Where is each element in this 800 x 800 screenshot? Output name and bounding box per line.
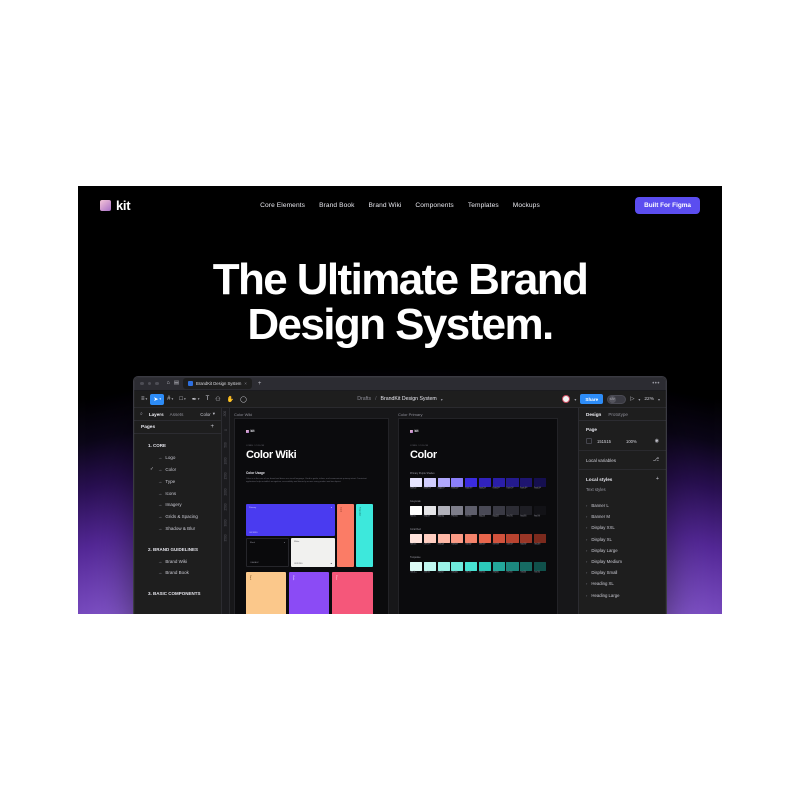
swatch: Coral 200#FFB8A6 <box>438 534 450 546</box>
text-style-display-small[interactable]: ›Display Small <box>579 567 666 578</box>
swatch: Turq 700#1C887E <box>506 562 518 574</box>
color-block-name: Rose <box>335 575 337 580</box>
style-bullet-icon: › <box>586 525 587 530</box>
artboard-eyebrow: CORE / COLOR <box>246 445 388 447</box>
page-arrow-icon: → <box>158 502 162 507</box>
nav-links: Core Elements Brand Book Brand Wiki Comp… <box>78 186 722 224</box>
swatch: Purple 400#5B4DF0 <box>465 478 477 490</box>
swatch-hex: #7E7E8A <box>451 517 463 518</box>
frame-label-color-wiki[interactable]: Color Wiki <box>234 412 252 417</box>
swatch-hex: #4A4A56 <box>479 517 491 518</box>
page-arrow-icon: → <box>158 570 162 575</box>
style-bullet-icon: › <box>586 503 587 508</box>
swatch: Turq 200#9BF2E7 <box>438 562 450 574</box>
text-style-label: Banner M <box>591 514 610 519</box>
swatch-hex: #E8664C <box>479 545 491 546</box>
frame-tool-button[interactable]: #▾ <box>164 394 176 404</box>
visibility-eye-icon[interactable]: ◉ <box>655 438 659 444</box>
text-tool-icon: T <box>206 396 210 402</box>
nav-item-brand-book[interactable]: Brand Book <box>319 202 354 209</box>
swatch-section-label: Greyscale <box>410 500 546 503</box>
shape-tool-icon: □ <box>179 396 183 402</box>
hand-tool-button[interactable]: ✋ <box>224 394 237 405</box>
swatch-row: Purple 50#E7E5FE Purple 100#D0CCFD Purpl… <box>410 478 546 490</box>
chevron-down-icon: ▾ <box>213 411 215 417</box>
swatch: Coral 900#7B2A1D <box>534 534 546 546</box>
hero-heading: The Ultimate Brand Design System. <box>78 258 722 348</box>
color-block-corner: ■ <box>331 563 332 565</box>
page-item-label: Shadow & Blur <box>165 526 195 531</box>
dev-mode-toggle[interactable]: </> <box>607 395 626 404</box>
swatch-hex: #5E5E6B <box>465 517 477 518</box>
swatch: Coral 800#9A3626 <box>520 534 532 546</box>
page-arrow-icon: → <box>158 559 162 564</box>
swatch-hex: #E4E4E7 <box>424 517 436 518</box>
page-properties-section: Page 151515 100% ◉ <box>579 421 666 451</box>
ruler-tick: 3000 <box>224 519 228 526</box>
ruler-tick: 1500 <box>224 472 228 479</box>
page-group-brand-guidelines[interactable]: 2. BRAND GUIDELINES <box>134 543 221 555</box>
swatch: Turq 600#23A89B <box>493 562 505 574</box>
artboard-logo: kit <box>410 429 557 433</box>
page-item-icons[interactable]: →Icons <box>134 487 221 499</box>
swatch: Turq 500#2CC9B9 <box>479 562 491 574</box>
swatch: Turq 300#6FEBDD <box>451 562 463 574</box>
page-item-label: Logo <box>165 455 175 460</box>
swatch: Purple 800#1E1570 <box>520 478 532 490</box>
selected-check-icon: ✓ <box>150 466 155 472</box>
tab-layers[interactable]: Layers <box>149 412 164 417</box>
figma-file-icon <box>188 381 193 386</box>
swatch: Coral 50#FFE3DC <box>410 534 422 546</box>
color-block-black: Black #0A0A0C ● <box>246 538 289 567</box>
color-block-name: Sand <box>249 575 251 580</box>
share-button[interactable]: Share <box>580 394 603 404</box>
page-item-label: Type <box>165 479 175 484</box>
text-style-label: Heading Large <box>591 593 619 598</box>
page-item-grids-spacing[interactable]: →Grids & Spacing <box>134 511 221 523</box>
page-item-shadow-blur[interactable]: →Shadow & Blur <box>134 523 221 535</box>
close-icon[interactable]: × <box>244 381 246 386</box>
website-screenshot: kit Core Elements Brand Book Brand Wiki … <box>78 186 722 614</box>
text-style-display-medium[interactable]: ›Display Medium <box>579 556 666 567</box>
chevron-down-icon: ▾ <box>159 397 161 401</box>
swatch: Purple 300#8C80FA <box>451 478 463 490</box>
page-item-label: Grids & Spacing <box>165 514 198 519</box>
comment-tool-icon: ◯ <box>240 396 247 403</box>
swatch-hex: #3B2BE0 <box>479 489 491 490</box>
figma-canvas[interactable]: -500 0 500 1000 1500 2000 2500 3000 3500… <box>222 408 578 614</box>
home-icon[interactable]: ⌂ <box>167 381 170 387</box>
swatch-hex: #3122BC <box>493 489 505 490</box>
menu-tool-icon: ≡ <box>141 396 145 402</box>
artboard-title: Color <box>410 449 557 461</box>
nav-item-core-elements[interactable]: Core Elements <box>260 202 305 209</box>
swatch-hex: #150F4F <box>534 489 546 490</box>
swatch: Turq 100#BFF7EF <box>424 562 436 574</box>
swatch-hex: #FFCEC1 <box>424 545 436 546</box>
ruler-tick: 2000 <box>224 488 228 495</box>
page-section-heading: Page <box>586 427 659 432</box>
swatch-section-coral-red: Coral Red Coral 50#FFE3DC Coral 100#FFCE… <box>410 528 546 546</box>
page-arrow-icon: → <box>158 491 162 496</box>
page-group-label: 1. CORE <box>148 443 166 448</box>
swatch-hex: #166B63 <box>520 573 532 574</box>
swatch-hex: #8C80FA <box>451 489 463 490</box>
breadcrumb-project[interactable]: Drafts <box>357 396 371 402</box>
swatch: Purple 50#E7E5FE <box>410 478 422 490</box>
local-variables-row[interactable]: Local variables ⎇ <box>586 457 659 463</box>
swatch: Grey 600#3A3A44 <box>493 506 505 518</box>
style-bullet-icon: › <box>586 581 587 586</box>
page-item-label: Icons <box>165 491 176 496</box>
shape-tool-button[interactable]: □▾ <box>176 394 188 404</box>
color-block-turquoise: Turquoise <box>356 504 373 567</box>
browser-tabbar: ⌂ ▤ BrandKit Design System × + ••• <box>134 377 666 391</box>
chevron-down-icon: ▾ <box>146 397 148 401</box>
swatch: Coral 300#FB9B85 <box>451 534 463 546</box>
local-styles-label: Local styles <box>586 477 612 482</box>
figma-body: ⌕ Layers Assets Color ▾ Pages + 1. CORE <box>134 408 666 614</box>
page-group-basic-components[interactable]: 3. BASIC COMPONENTS <box>134 588 221 600</box>
color-block-sand: Sand <box>246 572 286 614</box>
page-item-label: Brand Book <box>165 570 189 575</box>
text-style-banner-m[interactable]: ›Banner M <box>579 511 666 522</box>
style-bullet-icon: › <box>586 548 587 553</box>
components-tool-button[interactable]: ⚇ <box>212 394 223 405</box>
navbar: kit Core Elements Brand Book Brand Wiki … <box>78 186 722 224</box>
swatch-hex: #1E1570 <box>520 489 532 490</box>
artboard-paragraph: Color is at the core of our brand and dr… <box>246 478 377 484</box>
chevron-down-icon: ▾ <box>172 397 174 401</box>
swatch: Purple 500#3B2BE0 <box>479 478 491 490</box>
swatch: Grey 500#4A4A56 <box>479 506 491 518</box>
swatch: Purple 900#150F4F <box>534 478 546 490</box>
pen-tool-button[interactable]: ✒▾ <box>189 394 203 405</box>
breadcrumb-separator: / <box>375 396 376 402</box>
vertical-ruler: -500 0 500 1000 1500 2000 2500 3000 3500 <box>222 408 230 614</box>
color-block-name: White <box>294 541 299 543</box>
page-arrow-icon: → <box>158 467 162 472</box>
page-root: kit Core Elements Brand Book Brand Wiki … <box>0 0 800 800</box>
nav-item-components[interactable]: Components <box>415 202 453 209</box>
page-item-brand-book[interactable]: →Brand Book <box>134 567 221 579</box>
style-bullet-icon: › <box>586 570 587 575</box>
browser-tab-title: BrandKit Design System <box>196 381 241 386</box>
swatch: Purple 100#D0CCFD <box>424 478 436 490</box>
text-style-display-xxl[interactable]: ›Display XXL <box>579 522 666 533</box>
color-block-hex: #0A0A0C <box>250 562 259 564</box>
color-block-corner: ● <box>284 542 285 544</box>
avatar[interactable] <box>562 395 570 403</box>
page-item-logo[interactable]: →Logo <box>134 452 221 464</box>
nav-item-mockups[interactable]: Mockups <box>513 202 540 209</box>
style-bullet-icon: › <box>586 559 587 564</box>
text-style-heading-large[interactable]: ›Heading Large <box>579 590 666 601</box>
swatch: Turq 900#10514B <box>534 562 546 574</box>
swatch-section-label: Primary Purple Shades <box>410 472 546 475</box>
swatch-hex: #2CC9B9 <box>479 573 491 574</box>
swatch-hex: #B1B1BA <box>438 517 450 518</box>
swatch-hex: #E7E5FE <box>410 489 422 490</box>
swatch-hex: #FFFFFF <box>410 517 422 518</box>
nav-item-templates[interactable]: Templates <box>468 202 499 209</box>
text-style-label: Display XXL <box>591 525 614 530</box>
text-style-label: Display Large <box>591 548 617 553</box>
text-tool-button[interactable]: T <box>203 394 213 404</box>
swatch-hex: #3A3A44 <box>493 517 505 518</box>
artboard-logo-label: kit <box>251 429 255 433</box>
swatch: Purple 700#281C95 <box>506 478 518 490</box>
built-for-figma-button[interactable]: Built For Figma <box>635 197 700 214</box>
swatch-row: Grey 50#FFFFFF Grey 100#E4E4E7 Grey 200#… <box>410 506 546 518</box>
page-group-label: 2. BRAND GUIDELINES <box>148 547 198 552</box>
artboard-color-wiki[interactable]: kit CORE / COLOR Color Wiki Color Usage … <box>234 418 389 614</box>
tab-assets[interactable]: Assets <box>170 412 184 417</box>
color-block-rose: Rose <box>332 572 373 614</box>
zoom-chevron-down-icon[interactable]: ▾ <box>658 397 660 402</box>
window-close-dot[interactable] <box>140 382 144 386</box>
color-block-name: Primary <box>249 507 256 509</box>
swatch-hex: #9BF2E7 <box>438 573 450 574</box>
color-block-white: White #F2F2F0 ■ <box>291 538 335 567</box>
components-tool-icon: ⚇ <box>215 396 220 403</box>
swatch-section-label: Coral Red <box>410 528 546 531</box>
layers-panel-tabs: ⌕ Layers Assets Color ▾ <box>134 408 221 421</box>
swatch-hex: #1C887E <box>506 573 518 574</box>
text-style-label: Display Medium <box>591 559 622 564</box>
swatch: Coral 100#FFCEC1 <box>424 534 436 546</box>
comment-tool-button[interactable]: ◯ <box>237 394 250 405</box>
artboard-title: Color Wiki <box>246 449 388 461</box>
window-minimize-dot[interactable] <box>148 382 152 386</box>
page-fill-row: 151515 100% ◉ <box>586 438 659 444</box>
swatch-hex: #FFE3DC <box>410 545 422 546</box>
chevron-down-icon[interactable]: ▾ <box>441 397 443 402</box>
swatch-section-turquoise: Turquoise Turq 50#DCFBF6 Turq 100#BFF7EF… <box>410 556 546 574</box>
artboard-subtitle: Color Usage <box>246 471 388 475</box>
zoom-level[interactable]: 22% <box>644 397 654 402</box>
page-color-opacity[interactable]: 100% <box>626 439 637 444</box>
page-item-label: Imagery <box>165 502 181 507</box>
swatch: Coral 600#D1523C <box>493 534 505 546</box>
swatch-hex: #121216 <box>534 517 546 518</box>
swatch: Purple 600#3122BC <box>493 478 505 490</box>
page-list-spacer <box>134 579 221 588</box>
hero-heading-line-1: The Ultimate Brand <box>78 258 722 303</box>
ruler-tick: 3500 <box>224 534 228 541</box>
color-block-name: Violet <box>292 575 294 580</box>
color-block-name: Black <box>250 542 255 544</box>
kit-logo-icon <box>100 200 111 211</box>
grid-icon[interactable]: ▤ <box>174 381 179 387</box>
design-panel: Design Prototype Page 151515 100% ◉ <box>578 408 666 614</box>
page-item-brand-wiki[interactable]: →Brand Wiki <box>134 555 221 567</box>
pages-header: Pages + <box>134 421 221 434</box>
artboard-eyebrow: CORE / COLOR <box>410 445 557 447</box>
swatch: Turq 800#166B63 <box>520 562 532 574</box>
page-list-spacer <box>134 534 221 543</box>
color-block-violet: Violet <box>289 572 329 614</box>
text-style-display-large[interactable]: ›Display Large <box>579 545 666 556</box>
menu-tool-button[interactable]: ≡▾ <box>138 394 150 404</box>
text-style-label: Banner L <box>591 503 608 508</box>
text-style-label: Display Small <box>591 570 617 575</box>
chrome-menu-icon[interactable]: ••• <box>652 381 660 387</box>
swatch: Grey 200#B1B1BA <box>438 506 450 518</box>
swatch-section-primary-purple: Primary Purple Shades Purple 50#E7E5FE P… <box>410 472 546 490</box>
chevron-down-icon: ▾ <box>198 397 200 401</box>
present-icon[interactable]: ▷ <box>630 396 634 402</box>
toolbar-right-group: ▾ Share </> ▷ ▾ 22% ▾ <box>562 394 662 404</box>
swatch: Coral 500#E8664C <box>479 534 491 546</box>
frame-label-color-primary[interactable]: Color Primary <box>398 412 422 417</box>
swatch: Coral 700#B8432F <box>506 534 518 546</box>
swatch: Grey 900#121216 <box>534 506 546 518</box>
nav-item-brand-wiki[interactable]: Brand Wiki <box>369 202 402 209</box>
page-item-label: Brand Wiki <box>165 559 187 564</box>
artboard-logo-label: kit <box>415 429 419 433</box>
swatch-hex: #47E2D2 <box>465 573 477 574</box>
swatch-hex: #D0CCFD <box>424 489 436 490</box>
swatch-hex: #FB9B85 <box>451 545 463 546</box>
page-item-type[interactable]: →Type <box>134 475 221 487</box>
text-styles-list: ›Banner L ›Banner M ›Display XXL ›Displa… <box>579 500 666 601</box>
swatch-section-greyscale: Greyscale Grey 50#FFFFFF Grey 100#E4E4E7… <box>410 500 546 518</box>
local-variables-section[interactable]: Local variables ⎇ <box>579 451 666 470</box>
artboard-color-primary[interactable]: kit CORE / COLOR Color Primary Purple Sh… <box>398 418 558 614</box>
page-item-color[interactable]: ✓→Color <box>134 464 221 476</box>
move-tool-icon: ➤ <box>153 396 158 403</box>
page-selector-label: Color <box>200 412 211 417</box>
swatch-hex: #5B4DF0 <box>465 489 477 490</box>
ruler-tick: 2500 <box>224 503 228 510</box>
swatch-hex: #1E1E24 <box>520 517 532 518</box>
kit-logo-icon <box>246 430 249 433</box>
figma-toolbar: ≡▾ ➤▾ #▾ □▾ ✒▾ T ⚇ ✋ ◯ Drafts / BrandKit… <box>134 391 666 408</box>
text-style-heading-xl[interactable]: ›Heading XL <box>579 578 666 589</box>
page-selector[interactable]: Color ▾ <box>200 411 215 417</box>
swatch-hex: #2C2C34 <box>506 517 518 518</box>
swatch-hex: #B8432F <box>506 545 518 546</box>
swatch: Grey 300#7E7E8A <box>451 506 463 518</box>
present-chevron-down-icon[interactable]: ▾ <box>638 397 640 402</box>
page-group-label: 3. BASIC COMPONENTS <box>148 591 201 596</box>
page-arrow-icon: → <box>158 479 162 484</box>
page-color-swatch[interactable] <box>586 438 592 444</box>
swatch-hex: #23A89B <box>493 573 505 574</box>
page-arrow-icon: → <box>158 455 162 460</box>
ruler-tick: 0 <box>224 429 228 431</box>
hand-tool-icon: ✋ <box>227 396 234 403</box>
swatch-hex: #281C95 <box>506 489 518 490</box>
new-tab-button[interactable]: + <box>258 381 262 387</box>
add-style-button[interactable]: + <box>656 476 659 482</box>
add-page-button[interactable]: + <box>210 424 214 430</box>
frame-tool-icon: # <box>167 396 170 402</box>
hero-heading-line-2: Design System. <box>78 303 722 348</box>
brand-logo[interactable]: kit <box>100 198 130 213</box>
swatch-hex: #6FEBDD <box>451 573 463 574</box>
local-styles-section: Local styles + Text styles <box>579 470 666 500</box>
swatch: Grey 400#5E5E6B <box>465 506 477 518</box>
breadcrumb-file[interactable]: BrandKit Design System <box>381 396 437 402</box>
swatch: Grey 100#E4E4E7 <box>424 506 436 518</box>
color-block-primary: Primary #4F3FF0 ● <box>246 504 335 536</box>
swatch-hex: #10514B <box>534 573 546 574</box>
swatch: Purple 200#B0A8FC <box>438 478 450 490</box>
style-bullet-icon: › <box>586 593 587 598</box>
swatch-section-label: Turquoise <box>410 556 546 559</box>
kit-logo-icon <box>410 430 413 433</box>
text-styles-caption: Text styles <box>586 487 659 492</box>
swatch-hex: #B0A8FC <box>438 489 450 490</box>
pages-label: Pages <box>141 425 155 430</box>
variables-icon[interactable]: ⎇ <box>653 457 659 463</box>
swatch: Turq 400#47E2D2 <box>465 562 477 574</box>
avatar-chevron-down-icon[interactable]: ▾ <box>574 397 576 402</box>
style-bullet-icon: › <box>586 514 587 519</box>
local-styles-heading: Local styles + <box>586 476 659 482</box>
swatch-hex: #F4836B <box>465 545 477 546</box>
search-icon[interactable]: ⌕ <box>140 411 143 417</box>
chevron-down-icon: ▾ <box>184 397 186 401</box>
browser-tab[interactable]: BrandKit Design System × <box>183 378 252 389</box>
swatch: Coral 400#F4836B <box>465 534 477 546</box>
design-panel-tabs: Design Prototype <box>579 408 666 421</box>
move-tool-button[interactable]: ➤▾ <box>150 394 164 405</box>
dev-mode-icon: </> <box>609 396 616 403</box>
swatch-row: Turq 50#DCFBF6 Turq 100#BFF7EF Turq 200#… <box>410 562 546 574</box>
text-style-display-xl[interactable]: ›Display XL <box>579 534 666 545</box>
color-block-name: Turquoise <box>359 507 361 516</box>
color-block-hex: #4F3FF0 <box>249 532 257 534</box>
tab-prototype[interactable]: Prototype <box>608 412 628 417</box>
color-block-coral: Coral <box>337 504 354 567</box>
ruler-tick: -500 <box>223 411 227 417</box>
local-variables-label: Local variables <box>586 458 616 463</box>
swatch-hex: #DCFBF6 <box>410 573 422 574</box>
artboard-logo: kit <box>246 429 388 433</box>
swatch-hex: #D1523C <box>493 545 505 546</box>
layers-panel: ⌕ Layers Assets Color ▾ Pages + 1. CORE <box>134 408 222 614</box>
swatch: Grey 800#1E1E24 <box>520 506 532 518</box>
text-style-label: Heading XL <box>591 581 613 586</box>
swatch: Grey 700#2C2C34 <box>506 506 518 518</box>
ruler-tick: 1000 <box>224 457 228 464</box>
pages-list: 1. CORE →Logo ✓→Color →Type →Icons →Imag… <box>134 434 221 600</box>
swatch: Turq 50#DCFBF6 <box>410 562 422 574</box>
tab-design[interactable]: Design <box>586 412 601 417</box>
text-style-label: Display XL <box>591 537 612 542</box>
page-arrow-icon: → <box>158 526 162 531</box>
swatch-row: Coral 50#FFE3DC Coral 100#FFCEC1 Coral 2… <box>410 534 546 546</box>
color-block-corner: ● <box>331 507 332 509</box>
page-item-imagery[interactable]: →Imagery <box>134 499 221 511</box>
swatch-hex: #FFB8A6 <box>438 545 450 546</box>
page-arrow-icon: → <box>158 514 162 519</box>
page-group-core[interactable]: 1. CORE <box>134 440 221 452</box>
window-maximize-dot[interactable] <box>155 382 159 386</box>
figma-app-mockup: ⌂ ▤ BrandKit Design System × + ••• ≡▾ ➤▾… <box>133 376 667 614</box>
style-bullet-icon: › <box>586 537 587 542</box>
page-color-hex[interactable]: 151515 <box>597 439 611 444</box>
text-style-banner-l[interactable]: ›Banner L <box>579 500 666 511</box>
swatch-hex: #9A3626 <box>520 545 532 546</box>
pen-tool-icon: ✒ <box>192 396 197 403</box>
swatch-hex: #7B2A1D <box>534 545 546 546</box>
page-section-label: Page <box>586 427 597 432</box>
